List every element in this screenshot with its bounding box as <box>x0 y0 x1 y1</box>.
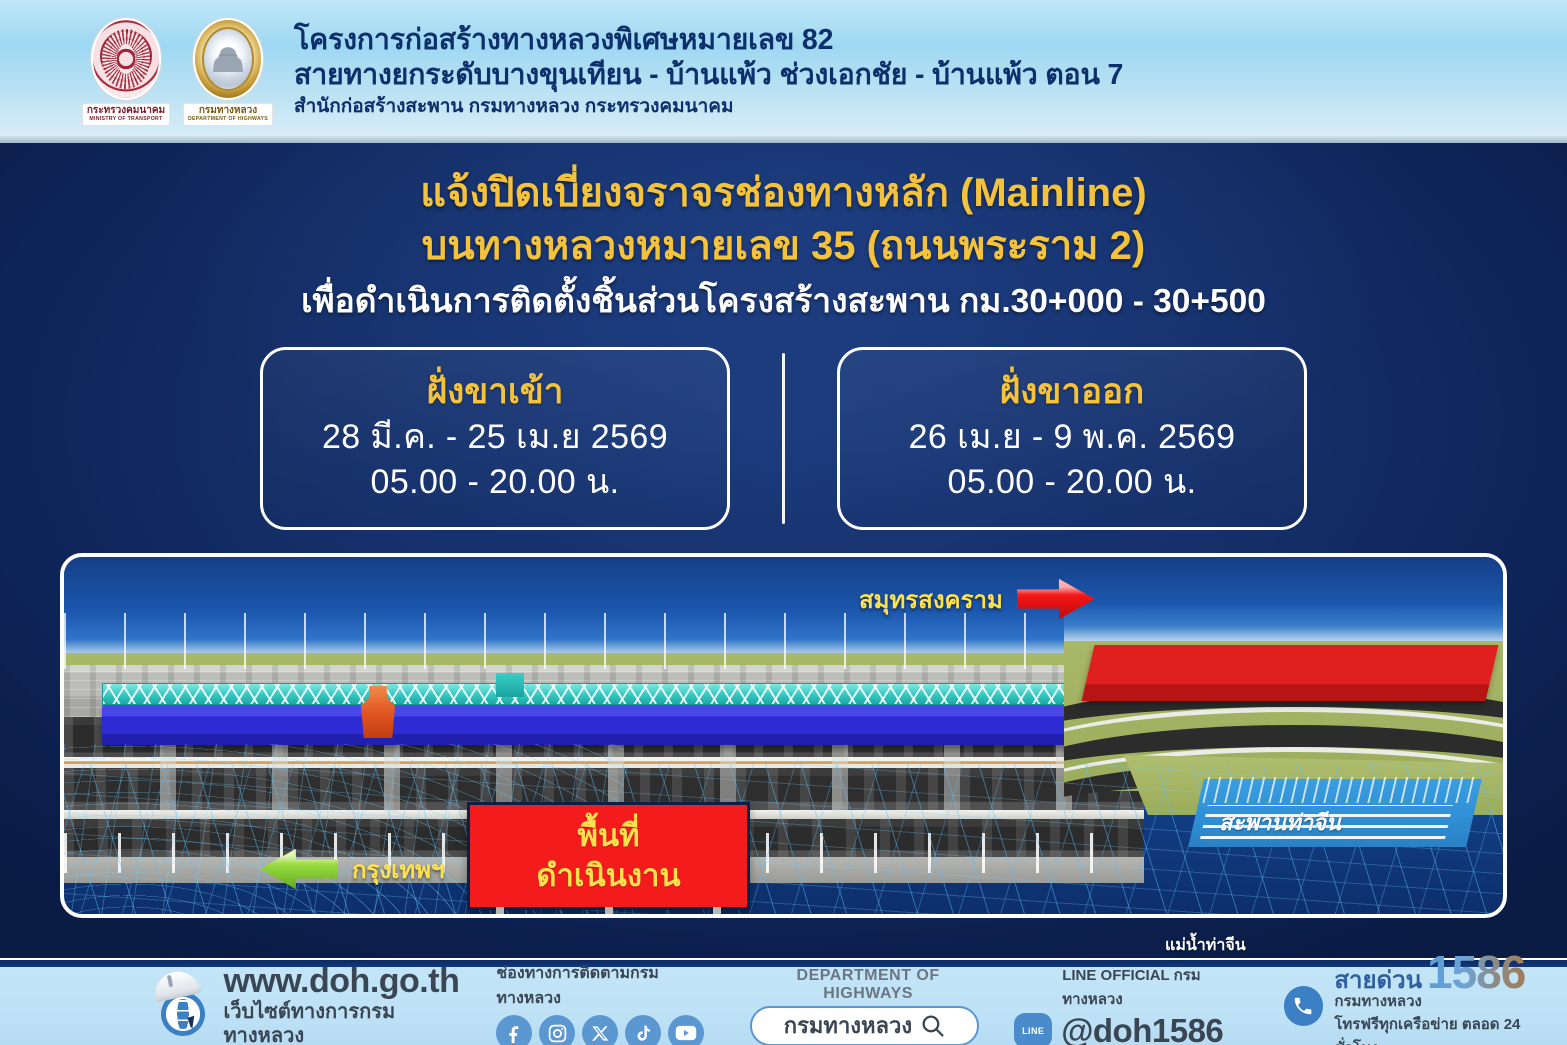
agency-logos: กระทรวงคมนาคม MINISTRY OF TRANSPORT กรมท… <box>82 18 272 125</box>
line-official-id[interactable]: @doh1586 <box>1061 1012 1223 1045</box>
hotline-note: โทรฟรีทุกเครือข่าย ตลอด 24 ชั่วโมง <box>1334 1012 1567 1045</box>
poster-body: แจ้งปิดเบี่ยงจราจรช่องทางหลัก (Mainline)… <box>0 143 1567 958</box>
deck-upper-fence <box>64 613 1144 669</box>
work-area-sign-line-1: พื้นที่ <box>577 816 639 856</box>
department-of-highways-seal-icon <box>193 18 263 100</box>
announcement-subtitle: เพื่อดำเนินการติดตั้งชิ้นส่วนโครงสร้างสะ… <box>0 279 1567 324</box>
mot-caption-en: MINISTRY OF TRANSPORT <box>87 117 165 122</box>
doh-caption-en: DEPARTMENT OF HIGHWAYS <box>188 117 268 122</box>
schedule-outbound-times: 05.00 - 20.00 น. <box>948 460 1197 505</box>
construction-site-diagram: พื้นที่ ดำเนินงาน สมุทรสงคราม กรุงเทพฯ <box>60 553 1507 918</box>
schedule-inbound-times: 05.00 - 20.00 น. <box>371 460 620 505</box>
work-area-sign: พื้นที่ ดำเนินงาน <box>467 802 750 910</box>
project-title-block: โครงการก่อสร้างทางหลวงพิเศษหมายเลข 82 สา… <box>294 23 1123 119</box>
globe-helmet-icon <box>155 978 210 1034</box>
x-twitter-icon[interactable] <box>582 1015 618 1045</box>
facebook-icon[interactable] <box>496 1015 532 1045</box>
hotline-label-sub: กรมทางหลวง <box>1334 993 1422 1010</box>
search-input[interactable]: กรมทางหลวง <box>750 1006 979 1045</box>
schedule-outbound-box: ฝั่งขาออก 26 เม.ย - 9 พ.ค. 2569 05.00 - … <box>837 347 1307 530</box>
ministry-of-transport-caption: กระทรวงคมนาคม MINISTRY OF TRANSPORT <box>83 104 169 125</box>
project-title-line-1: โครงการก่อสร้างทางหลวงพิเศษหมายเลข 82 <box>294 23 1123 58</box>
line-caption: LINE OFFICIAL กรมทางหลวง <box>1062 963 1259 1011</box>
website-section[interactable]: www.doh.go.th เว็บไซต์ทางการกรมทางหลวง <box>0 964 473 1045</box>
website-text: www.doh.go.th เว็บไซต์ทางการกรมทางหลวง <box>223 964 473 1045</box>
announcement-title: แจ้งปิดเบี่ยงจราจรช่องทางหลัก (Mainline)… <box>0 143 1567 325</box>
hotline-label-main: สายด่วน <box>1334 969 1422 993</box>
hotline-text: สายด่วน กรมทางหลวง 1586 โทรฟรีทุกเครือข่… <box>1334 952 1567 1045</box>
launching-gantry-truss <box>102 683 1112 705</box>
doh-caption-th: กรมทางหลวง <box>188 106 268 117</box>
arrow-right-icon <box>1017 577 1095 621</box>
doh-caption: กรมทางหลวง DEPARTMENT OF HIGHWAYS <box>184 104 272 125</box>
line-official-section[interactable]: LINE OFFICIAL กรมทางหลวง LINE @doh1586 <box>1014 963 1259 1045</box>
schedule-inbound-dates: 28 มี.ค. - 25 เม.ย 2569 <box>322 415 668 460</box>
tiktok-icon[interactable] <box>625 1015 661 1045</box>
youtube-icon[interactable] <box>668 1015 704 1045</box>
schedule-divider <box>782 353 785 524</box>
direction-samut-songkhram: สมุทรสงคราม <box>859 577 1095 621</box>
project-title-line-2: สายทางยกระดับบางขุนเทียน - บ้านแพ้ว ช่วง… <box>294 58 1123 93</box>
direction-bangkok: กรุงเทพฯ <box>260 847 444 891</box>
phone-icon <box>1284 986 1324 1026</box>
tha-chin-bridge-label: สะพานท่าจีน <box>1130 805 1430 840</box>
schedule-outbound-direction: ฝั่งขาออก <box>1000 371 1144 413</box>
schedule-outbound-dates: 26 เม.ย - 9 พ.ค. 2569 <box>909 415 1236 460</box>
schedule-inbound-box: ฝั่งขาเข้า 28 มี.ค. - 25 เม.ย 2569 05.00… <box>260 347 730 530</box>
tha-chin-bridge-deck <box>1082 645 1499 701</box>
social-media-section: ช่องทางการติดตามกรมทางหลวง <box>496 961 722 1045</box>
schedule-inbound-direction: ฝั่งขาเข้า <box>427 371 564 413</box>
social-caption: ช่องทางการติดตามกรมทางหลวง <box>496 961 722 1011</box>
search-icon <box>920 1013 945 1038</box>
search-section: DEPARTMENT OF HIGHWAYS กรมทางหลวง <box>750 967 986 1045</box>
interchange-sky <box>1064 557 1507 653</box>
poster-footer: www.doh.go.th เว็บไซต์ทางการกรมทางหลวง ช… <box>0 967 1567 1045</box>
schedule-row: ฝั่งขาเข้า 28 มี.ค. - 25 เม.ย 2569 05.00… <box>0 347 1567 530</box>
gantry-control-cabin <box>496 673 524 697</box>
line-app-icon: LINE <box>1014 1013 1052 1045</box>
social-icons-row <box>496 1015 722 1045</box>
arrow-left-icon <box>260 847 338 891</box>
search-caption: DEPARTMENT OF HIGHWAYS <box>750 967 986 1003</box>
project-agency-line: สำนักก่อสร้างสะพาน กรมทางหลวง กระทรวงคมน… <box>294 95 1123 120</box>
search-value: กรมทางหลวง <box>784 1008 912 1043</box>
announcement-poster: กระทรวงคมนาคม MINISTRY OF TRANSPORT กรมท… <box>0 0 1567 1045</box>
direction-bangkok-label: กรุงเทพฯ <box>352 850 444 889</box>
ministry-of-transport-seal-icon <box>91 18 161 100</box>
poster-header: กระทรวงคมนาคม MINISTRY OF TRANSPORT กรมท… <box>0 0 1567 143</box>
blue-segment-girder <box>102 705 1107 745</box>
mot-caption-th: กระทรวงคมนาคม <box>87 106 165 117</box>
announcement-title-line-2: บนทางหลวงหมายเลข 35 (ถนนพระราม 2) <box>0 220 1567 273</box>
hotline-section[interactable]: สายด่วน กรมทางหลวง 1586 โทรฟรีทุกเครือข่… <box>1284 952 1567 1045</box>
website-subtitle: เว็บไซต์ทางการกรมทางหลวง <box>223 1000 473 1045</box>
announcement-title-line-1: แจ้งปิดเบี่ยงจราจรช่องทางหลัก (Mainline) <box>0 167 1567 220</box>
instagram-icon[interactable] <box>539 1015 575 1045</box>
direction-samut-songkhram-label: สมุทรสงคราม <box>859 580 1003 619</box>
department-of-highways-logo: กรมทางหลวง DEPARTMENT OF HIGHWAYS <box>184 18 272 125</box>
line-badge-text: LINE <box>1022 1026 1044 1036</box>
website-url[interactable]: www.doh.go.th <box>223 964 473 998</box>
hotline-number[interactable]: 1586 <box>1427 952 1525 993</box>
ministry-of-transport-logo: กระทรวงคมนาคม MINISTRY OF TRANSPORT <box>82 18 170 125</box>
work-area-sign-line-2: ดำเนินงาน <box>536 856 680 896</box>
tha-chin-river-label: แม่น้ำท่าจีน <box>1165 933 1246 958</box>
